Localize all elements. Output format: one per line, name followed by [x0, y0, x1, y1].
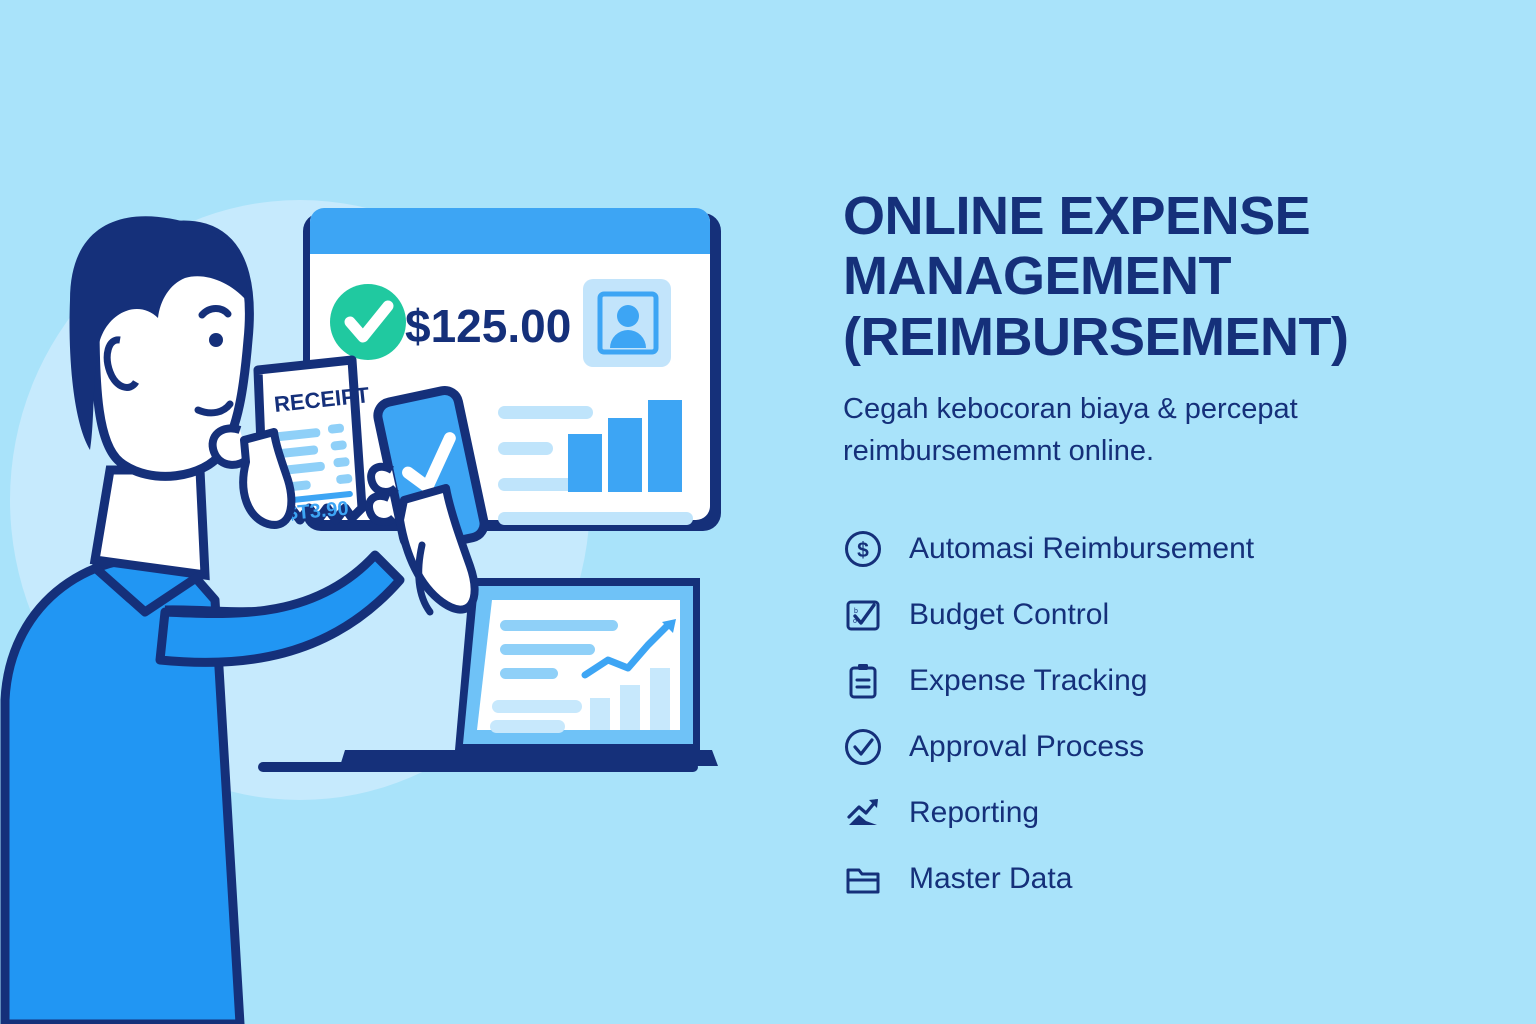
- feature-label: Budget Control: [909, 600, 1109, 630]
- feature-label: Approval Process: [909, 732, 1144, 762]
- svg-text:o: o: [853, 618, 857, 625]
- feature-item-approval-process: Approval Process: [843, 714, 1443, 780]
- feature-label: Master Data: [909, 864, 1072, 894]
- folder-icon: [843, 859, 883, 899]
- feature-item-master-data: Master Data: [843, 846, 1443, 912]
- feature-label: Expense Tracking: [909, 666, 1147, 696]
- content-panel: Online Expense Management (Reimbursement…: [843, 186, 1443, 912]
- svg-text:$: $: [857, 539, 869, 562]
- dollar-circle-icon: $: [843, 529, 883, 569]
- headline-line-3: (Reimbursement): [843, 307, 1443, 367]
- green-check-badge: [330, 284, 406, 360]
- monitor-illustration: $125.00: [303, 208, 721, 531]
- feature-item-reporting: Reporting: [843, 780, 1443, 846]
- clipboard-icon: [843, 661, 883, 701]
- feature-label: Automasi Reimbursement: [909, 534, 1254, 564]
- feature-list: $ Automasi Reimbursement b o Budget Cont…: [843, 516, 1443, 912]
- feature-item-expense-tracking: Expense Tracking: [843, 648, 1443, 714]
- checkbox-square-icon: b o: [843, 595, 883, 635]
- svg-text:b: b: [854, 608, 858, 615]
- headline-line-1: Online Expense: [843, 186, 1443, 246]
- subtitle: Cegah kebocoran biaya & percepat reimbur…: [843, 389, 1363, 471]
- page-title: Online Expense Management (Reimbursement…: [843, 186, 1443, 367]
- poster-canvas: $125.00: [0, 0, 1536, 1024]
- avatar-card: [583, 279, 671, 367]
- check-circle-icon: [843, 727, 883, 767]
- headline-line-2: Management: [843, 246, 1443, 306]
- feature-item-budget-control: b o Budget Control: [843, 582, 1443, 648]
- monitor-amount: $125.00: [405, 300, 571, 352]
- feature-label: Reporting: [909, 798, 1039, 828]
- hero-illustration: $125.00: [0, 0, 800, 1024]
- trending-up-icon: [843, 793, 883, 833]
- feature-item-automasi-reimbursement: $ Automasi Reimbursement: [843, 516, 1443, 582]
